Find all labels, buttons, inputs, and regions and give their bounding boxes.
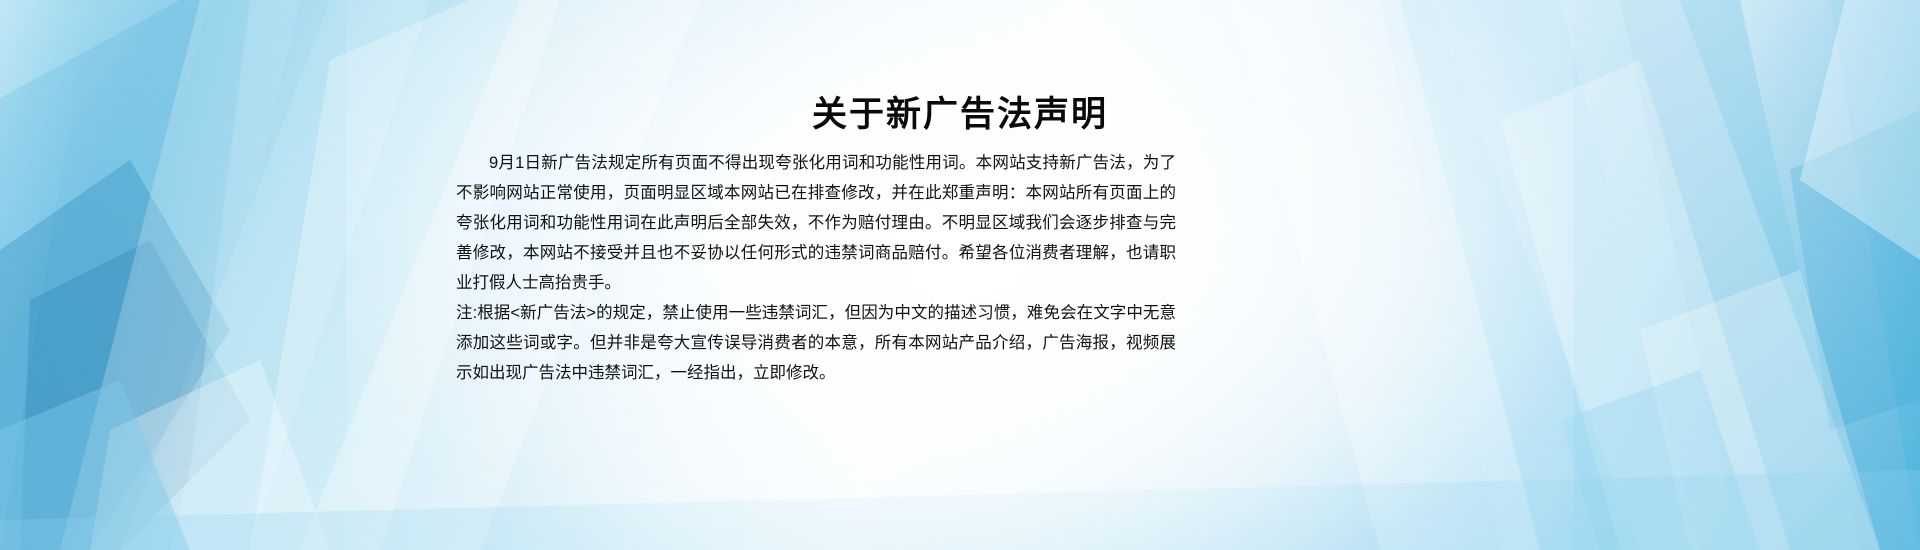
- page-title: 关于新广告法声明: [0, 86, 1920, 137]
- banner-content: 关于新广告法声明 9月1日新广告法规定所有页面不得出现夸张化用词和功能性用词。本…: [0, 0, 1920, 550]
- statement-paragraph-2: 注:根据<新广告法>的规定，禁止使用一些违禁词汇，但因为中文的描述习惯，难免会在…: [456, 298, 1176, 388]
- statement-paragraph-1: 9月1日新广告法规定所有页面不得出现夸张化用词和功能性用词。本网站支持新广告法，…: [456, 148, 1176, 298]
- statement-body: 9月1日新广告法规定所有页面不得出现夸张化用词和功能性用词。本网站支持新广告法，…: [456, 148, 1176, 388]
- advertising-law-statement-banner: 关于新广告法声明 9月1日新广告法规定所有页面不得出现夸张化用词和功能性用词。本…: [0, 0, 1920, 550]
